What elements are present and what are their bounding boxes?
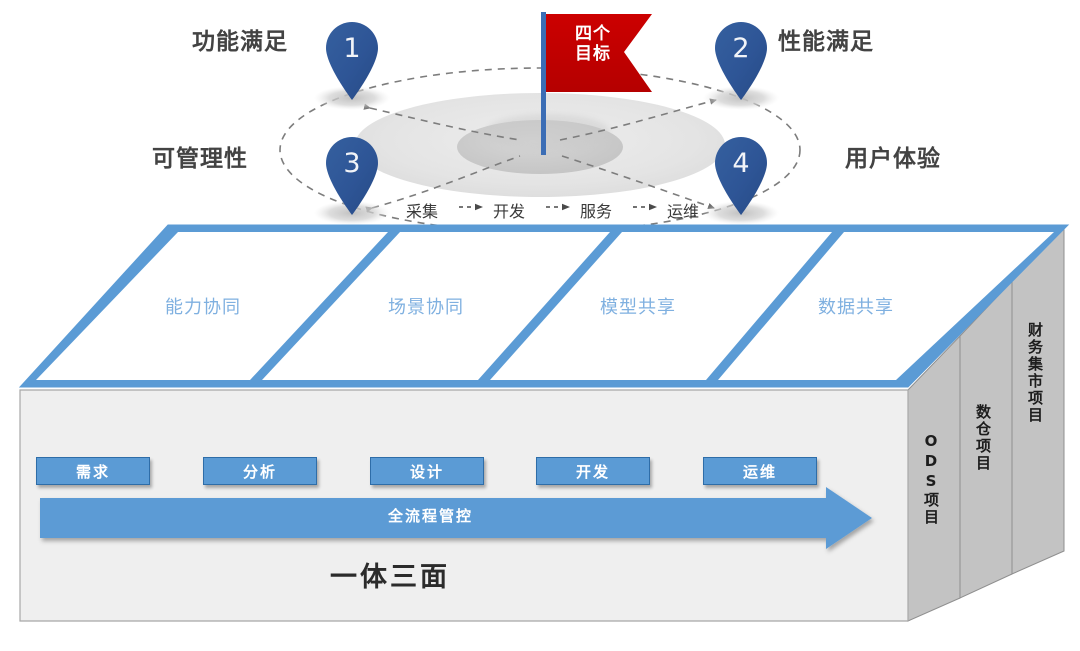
goal-label-3: 可管理性	[152, 139, 248, 173]
top-cell-label-3[interactable]: 数据共享	[818, 293, 894, 319]
top-cell-label-0[interactable]: 能力协同	[165, 293, 241, 319]
diagram-bottom-title: 一体三面	[0, 555, 780, 594]
stage-button-1[interactable]: 分析	[203, 457, 317, 485]
stage-button-0[interactable]: 需求	[36, 457, 150, 485]
goal-label-1: 功能满足	[192, 22, 288, 56]
flag-pole	[541, 12, 546, 155]
inner-disc-shade	[486, 114, 610, 150]
flow-step-0: 采集	[406, 198, 438, 222]
flag-label: 四个 目标	[565, 24, 621, 64]
flow-step-2: 服务	[580, 198, 612, 222]
top-cell-label-2[interactable]: 模型共享	[600, 293, 676, 319]
flag-label-line2: 目标	[565, 44, 621, 64]
process-arrow-label: 全流程管控	[388, 505, 473, 526]
flag-label-line1: 四个	[565, 24, 621, 44]
flow-step-3: 运维	[667, 198, 699, 222]
diagram-graphics	[0, 0, 1080, 651]
stage-button-3[interactable]: 开发	[536, 457, 650, 485]
top-cell-label-1[interactable]: 场景协同	[388, 293, 464, 319]
side-panel-label-dw[interactable]: 数仓项目	[973, 404, 994, 472]
stage-button-2[interactable]: 设计	[370, 457, 484, 485]
goal-label-2: 性能满足	[778, 22, 874, 56]
goal-label-4: 用户体验	[845, 139, 941, 173]
stage-button-4[interactable]: 运维	[703, 457, 817, 485]
side-panel-label-finance[interactable]: 财务集市项目	[1025, 322, 1046, 424]
side-panel-label-ods[interactable]: ODS项目	[921, 432, 942, 526]
center-disc-group	[355, 93, 725, 197]
diagram-canvas: 功能满足 性能满足 可管理性 用户体验 1 2 3 4 四个 目标 采集 开发 …	[0, 0, 1080, 651]
flow-step-1: 开发	[493, 198, 525, 222]
